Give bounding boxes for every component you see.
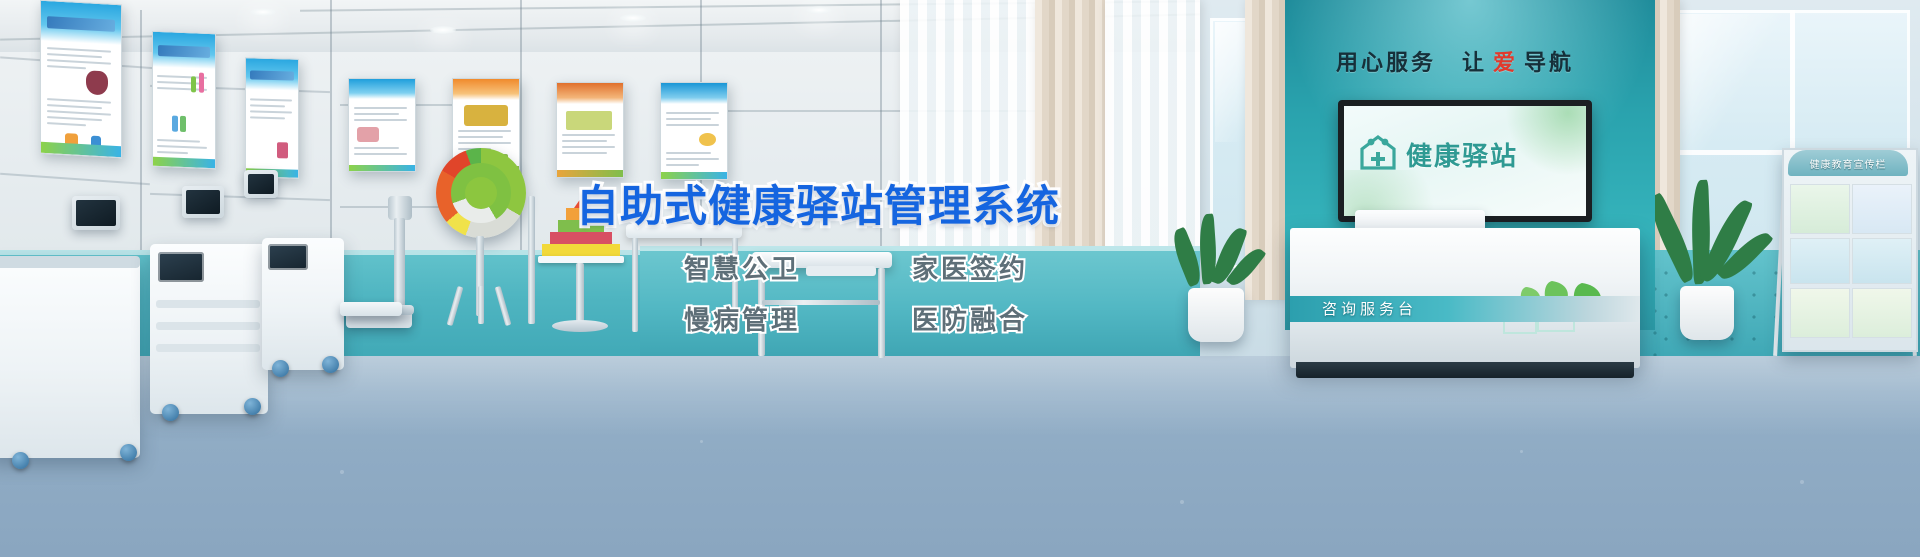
poster-mental-health <box>660 82 728 180</box>
caster-wheel <box>272 360 289 377</box>
weight-scale-pad <box>340 302 402 316</box>
plant-pot <box>1680 286 1734 340</box>
pyramid-graphic <box>566 111 612 130</box>
kiosk-top <box>0 256 140 268</box>
caster-wheel <box>244 398 261 415</box>
kiosk-drawer <box>156 300 260 308</box>
photo-thumb <box>357 127 379 142</box>
brochure <box>1790 238 1850 284</box>
floor-fleck <box>700 440 703 443</box>
reception-wall-screen: 健康驿站 <box>1338 100 1592 222</box>
ceiling-light-icon <box>250 8 276 16</box>
figure-illustration <box>277 142 287 159</box>
brochure <box>1852 238 1912 284</box>
feature-label-family-doctor-contract: 家医签约 <box>912 249 1082 286</box>
stand-pole <box>528 196 535 324</box>
floor-fleck <box>1800 480 1804 484</box>
house-cross-icon <box>1358 132 1398 177</box>
poster-text-block <box>354 147 411 159</box>
poster-header <box>661 83 727 104</box>
ceiling-light-icon <box>430 26 456 34</box>
screen-title: 健康驿站 <box>1406 136 1518 173</box>
brochure <box>1790 184 1850 234</box>
feature-label-medical-prevention-integration: 医防融合 <box>912 300 1082 337</box>
poster-text-block <box>666 152 723 170</box>
bar-graphic <box>191 76 196 92</box>
feature-label-smart-public-health: 智慧公卫 <box>684 249 854 286</box>
ceiling-light-icon <box>620 14 646 22</box>
brochure <box>1852 184 1912 234</box>
bar-graphic <box>199 72 204 92</box>
kiosk-screen <box>268 244 308 270</box>
poster-child-health <box>152 31 216 169</box>
wall-monitor <box>244 170 278 198</box>
poster-header <box>557 83 623 104</box>
photo-thumb <box>699 133 716 146</box>
plant-pot <box>1188 288 1244 342</box>
wall-slogan: 用心服务 让 爱 导航 <box>1330 46 1580 76</box>
kiosk-drawer <box>156 322 260 330</box>
desk-base <box>1296 362 1634 378</box>
window-glare <box>1665 14 1785 154</box>
figure-illustration <box>180 116 186 132</box>
floor-fleck <box>1520 450 1523 453</box>
lungs-illustration <box>86 70 108 96</box>
caster-wheel <box>12 452 29 469</box>
kiosk-drawer <box>156 344 260 352</box>
wall-monitor <box>72 196 120 230</box>
poster-footer <box>661 172 727 179</box>
poster-respiratory <box>40 0 122 158</box>
wall-monitor <box>182 186 224 218</box>
wall-slogan-accent: 爱 <box>1493 45 1518 77</box>
poster-footer <box>153 156 215 168</box>
brochure <box>1852 288 1912 338</box>
figure-illustration <box>172 116 178 132</box>
poster-text-block <box>354 107 411 125</box>
wall-slogan-part2-pre: 让 <box>1462 45 1487 77</box>
poster-text-block <box>47 47 116 75</box>
poster-footer <box>557 170 623 177</box>
desk-sign-text: 咨询服务台 <box>1322 298 1417 319</box>
poster-food-pagoda <box>556 82 624 178</box>
poster-text-block <box>47 98 116 132</box>
poster-header <box>349 79 415 99</box>
wall-slogan-part2-post: 导航 <box>1524 45 1574 77</box>
kiosk-screen <box>158 252 204 282</box>
page-title: 自助式健康驿站管理系统 <box>576 186 1046 229</box>
brochure <box>1790 288 1850 338</box>
food-photo <box>464 105 509 126</box>
screen-brand: 健康驿站 <box>1358 132 1518 177</box>
board-header-text: 健康教育宣传栏 <box>1810 156 1887 171</box>
wall-panel-seam <box>140 10 142 260</box>
health-station-banner: 用心服务 让 爱 导航 健康驿站 <box>0 0 1920 557</box>
poster-text-block <box>562 134 619 158</box>
nutrition-wheel-display <box>436 148 526 238</box>
ceiling-light-icon <box>806 6 832 14</box>
poster-title-bar <box>158 45 210 58</box>
feature-list: 智慧公卫 家医签约 慢病管理 医防融合 <box>576 249 1046 337</box>
floor-fleck <box>340 470 344 474</box>
floor-fleck <box>1180 500 1184 504</box>
wall-panel-seam <box>330 0 332 255</box>
poster-footer <box>349 165 415 171</box>
health-education-board <box>1782 148 1918 352</box>
caster-wheel <box>120 444 137 461</box>
tripod-leg <box>478 286 484 324</box>
self-service-health-kiosk-1 <box>0 258 140 458</box>
banner-title-block: 自助式健康驿站管理系统 智慧公卫 家医签约 慢病管理 医防融合 <box>576 186 1046 337</box>
feature-label-chronic-disease-management: 慢病管理 <box>684 300 854 337</box>
poster-nutrition-chart <box>245 57 299 179</box>
analyzer-head <box>388 196 412 220</box>
board-header: 健康教育宣传栏 <box>1788 150 1908 176</box>
wheel-center <box>465 177 497 209</box>
poster-text-block <box>666 112 723 130</box>
poster-header <box>453 79 519 100</box>
caster-wheel <box>322 356 339 373</box>
caster-wheel <box>162 404 179 421</box>
poster-tcm-guide <box>348 78 416 172</box>
poster-text-block <box>250 98 295 123</box>
wall-slogan-part1: 用心服务 <box>1336 45 1436 77</box>
poster-title-bar <box>250 70 294 81</box>
